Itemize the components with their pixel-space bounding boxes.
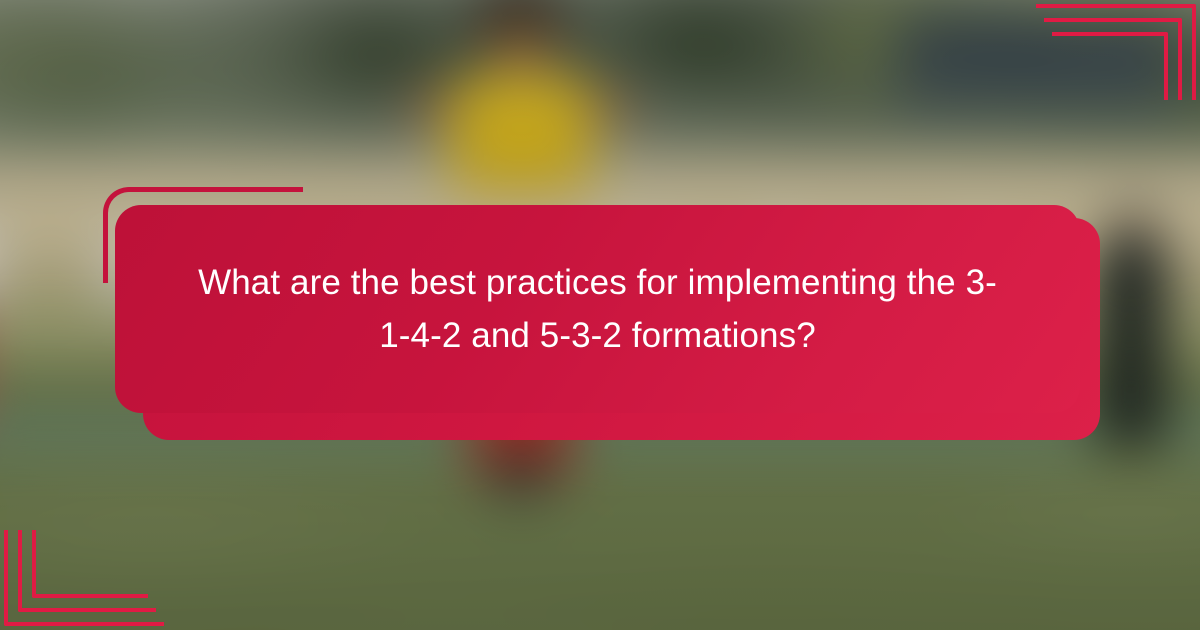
question-text: What are the best practices for implemen… [168, 256, 1028, 362]
question-card-stack: What are the best practices for implemen… [100, 185, 1100, 445]
question-card: What are the best practices for implemen… [115, 205, 1080, 413]
poster-canvas: What are the best practices for implemen… [0, 0, 1200, 630]
